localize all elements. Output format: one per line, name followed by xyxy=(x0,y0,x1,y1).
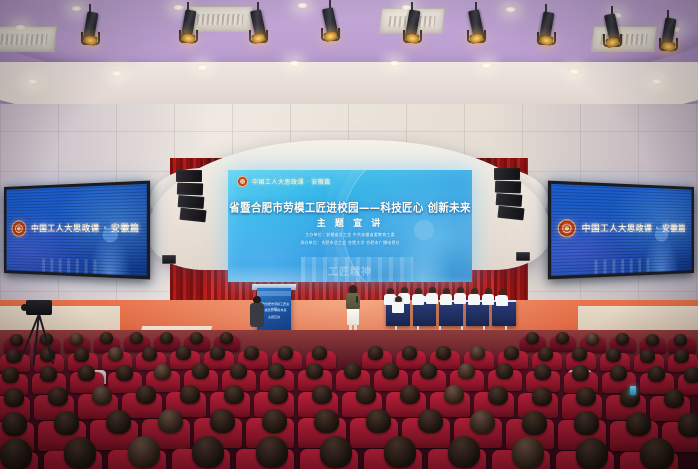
audience-head xyxy=(256,436,288,468)
audience-head xyxy=(116,365,133,381)
audience-head xyxy=(220,332,233,344)
main-screen-logo-text: 中国工人大思政课 · 安徽篇 xyxy=(252,177,331,186)
presenter-with-microphone xyxy=(344,285,362,333)
audience-head xyxy=(192,363,209,379)
microphone-icon xyxy=(356,296,358,303)
audience-head xyxy=(230,363,247,379)
main-led-screen: 中国工人大思政课 · 安徽篇 省暨合肥市劳模工匠进校园——科技匠心 创新未来 主… xyxy=(228,170,472,282)
audience-head xyxy=(664,389,684,408)
main-screen-organizer-line2: 承办单位：合肥市总工会 合肥大学 合肥市广播电视台 xyxy=(228,240,472,246)
audience-head xyxy=(674,334,687,346)
audience-head xyxy=(244,346,259,360)
downlight-icon xyxy=(70,5,83,12)
audience-head xyxy=(532,387,552,406)
side-screen-right-content: 中国工人大思政课 · 安徽篇 xyxy=(551,184,691,276)
main-screen-title: 省暨合肥市劳模工匠进校园——科技匠心 创新未来 xyxy=(228,199,472,215)
auditorium-photo: 中国工人大思政课 · 安徽篇 省暨合肥市劳模工匠进校园——科技匠心 创新未来 主… xyxy=(0,0,698,469)
audience-head xyxy=(40,366,57,382)
audience-head xyxy=(470,346,485,360)
audience-head xyxy=(572,365,589,381)
union-emblem-icon xyxy=(558,219,576,237)
audience-area xyxy=(0,330,698,469)
audience-head xyxy=(4,388,24,407)
audience-head xyxy=(312,385,332,404)
audience-head xyxy=(458,363,475,379)
audience-head xyxy=(262,409,287,433)
audience-head xyxy=(158,409,183,433)
audience-head xyxy=(534,364,551,380)
union-emblem-icon xyxy=(237,176,248,187)
audience-head xyxy=(678,413,698,437)
audience-head xyxy=(54,411,79,435)
downlight-icon xyxy=(650,78,663,85)
main-screen-subtitle: 主 题 宣 讲 xyxy=(228,216,472,229)
audience-head xyxy=(192,436,224,468)
audience-head xyxy=(684,367,698,383)
audience-head xyxy=(210,346,225,360)
downlight-icon xyxy=(288,60,301,67)
audience-head xyxy=(70,333,83,345)
main-screen-organizer-line1: 主办单位：安徽省总工会 中共安徽省委教育工委 xyxy=(228,232,472,238)
audience-head xyxy=(538,347,553,361)
downlight-icon xyxy=(14,24,27,31)
downlight-icon xyxy=(110,70,123,77)
audience-head xyxy=(444,385,464,404)
audience-head xyxy=(574,411,599,435)
audience-head xyxy=(512,437,544,469)
downlight-icon xyxy=(296,2,309,9)
audience-head xyxy=(180,385,200,404)
audience-head xyxy=(640,349,655,363)
main-screen-logo: 中国工人大思政课 · 安徽篇 xyxy=(237,176,331,187)
audience-head xyxy=(312,346,327,360)
audience-head xyxy=(306,363,323,379)
audience-head xyxy=(48,387,68,406)
audience-head xyxy=(100,332,113,344)
audience-head xyxy=(436,346,451,360)
audience-head xyxy=(572,347,587,361)
audience-head xyxy=(418,409,443,433)
audience-head xyxy=(448,436,480,468)
screen-decor-figure xyxy=(643,235,679,273)
audience-head xyxy=(556,332,569,344)
audience-head xyxy=(470,410,495,434)
audience-head xyxy=(2,412,27,436)
audience-head xyxy=(278,346,293,360)
side-screen-left-logo: 中国工人大思政课 · 安徽篇 xyxy=(7,219,147,237)
audience-head xyxy=(176,346,191,360)
audience-head xyxy=(366,409,391,433)
audience-head xyxy=(488,386,508,405)
screen-decor-figure xyxy=(90,235,131,275)
audience-head xyxy=(586,333,599,345)
audience-head xyxy=(160,332,173,344)
audience-head xyxy=(496,363,513,379)
audience-head xyxy=(210,409,235,433)
audience-head xyxy=(154,364,171,380)
line-array-speaker-right xyxy=(494,168,520,222)
audience-head xyxy=(504,346,519,360)
side-led-screen-left: 中国工人大思政课 · 安徽篇 xyxy=(4,181,150,280)
ac-vent-icon xyxy=(187,6,254,32)
audience-head xyxy=(224,385,244,404)
side-screen-left-content: 中国工人大思政课 · 安徽篇 xyxy=(7,184,147,276)
audience-head xyxy=(400,385,420,404)
downlight-icon xyxy=(480,62,493,69)
audience-head xyxy=(356,385,376,404)
audience-head xyxy=(368,346,383,360)
screen-decor-skyline xyxy=(594,258,653,274)
video-camera-tripod xyxy=(22,300,56,366)
audience-head xyxy=(74,348,89,362)
phone-screen-icon xyxy=(630,386,636,395)
audience-head xyxy=(402,346,417,360)
audience-head xyxy=(128,436,160,468)
ceiling xyxy=(0,0,698,118)
downlight-icon xyxy=(26,78,39,85)
audience-head xyxy=(64,437,96,469)
audience-head xyxy=(130,332,143,344)
downlight-icon xyxy=(388,60,401,67)
audience-head xyxy=(648,366,665,382)
audience-head xyxy=(640,438,674,469)
audience-head xyxy=(344,363,361,379)
audience-head xyxy=(610,365,627,381)
audience-head xyxy=(616,333,629,345)
downlight-icon xyxy=(196,64,209,71)
audience-head xyxy=(268,363,285,379)
audience-head xyxy=(142,347,157,361)
main-screen-watermark: 工匠精神 xyxy=(228,263,472,278)
audience-head xyxy=(78,365,95,381)
audience-head xyxy=(420,363,437,379)
ac-vent-icon xyxy=(591,26,658,52)
audience-head xyxy=(674,349,689,363)
audience-head xyxy=(92,386,112,405)
side-led-screen-right: 中国工人大思政课 · 安徽篇 xyxy=(548,181,694,280)
audience-head xyxy=(526,332,539,344)
audience-head xyxy=(606,348,621,362)
ac-vent-icon xyxy=(0,26,57,52)
audience-head xyxy=(108,347,123,361)
audience-head xyxy=(314,409,339,433)
downlight-icon xyxy=(568,68,581,75)
audience-head xyxy=(268,385,288,404)
wall-monitor-left xyxy=(162,255,176,264)
audience-head xyxy=(190,332,203,344)
audience-head xyxy=(106,410,131,434)
audience-head xyxy=(0,438,32,469)
audience-head xyxy=(382,363,399,379)
audience-head xyxy=(320,436,352,468)
line-array-speaker-left xyxy=(176,170,202,224)
audience-head xyxy=(576,387,596,406)
audience-head xyxy=(136,385,156,404)
screen-decor-skyline xyxy=(42,258,101,274)
audience-head xyxy=(2,367,19,383)
union-emblem-icon xyxy=(12,220,27,236)
side-screen-right-logo: 中国工人大思政课 · 安徽篇 xyxy=(551,219,691,237)
audience-head xyxy=(576,438,608,469)
side-screen-right-text: 中国工人大思政课 · 安徽篇 xyxy=(582,222,686,235)
wall-monitor-right xyxy=(516,252,530,261)
audience-head xyxy=(646,334,659,346)
audience-head xyxy=(384,436,416,468)
side-screen-left-text: 中国工人大思政课 · 安徽篇 xyxy=(31,222,140,235)
downlight-icon xyxy=(504,6,517,13)
downlight-icon xyxy=(172,4,185,11)
audience-head xyxy=(626,412,651,436)
audience-head xyxy=(522,411,547,435)
